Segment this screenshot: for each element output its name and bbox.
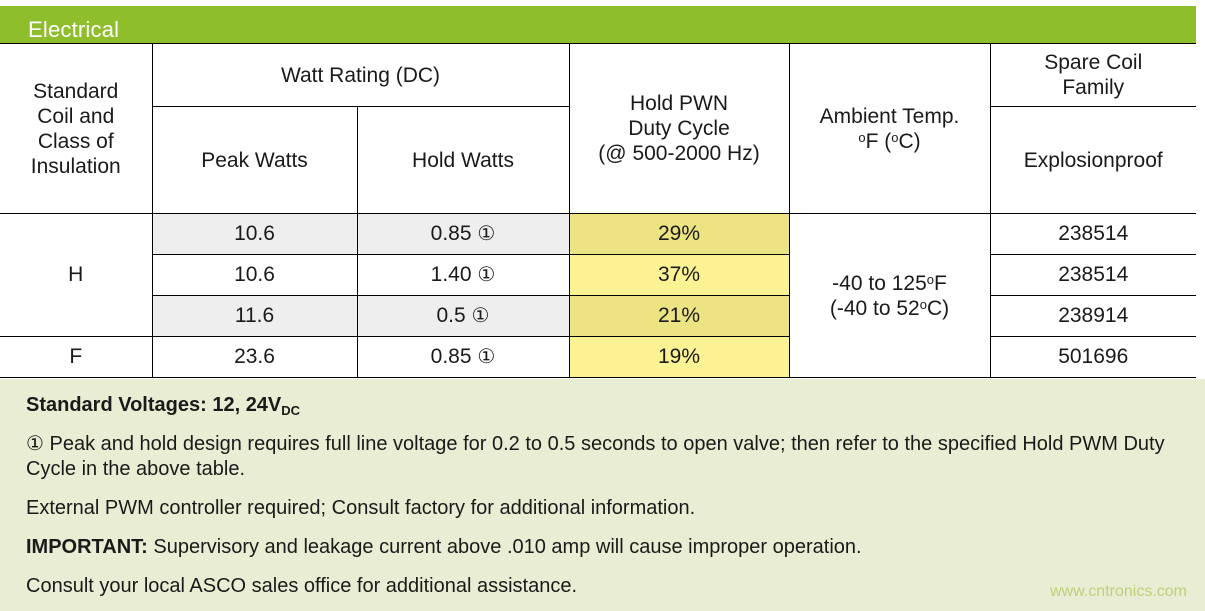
cell-spare-coil: 238914: [990, 296, 1196, 337]
note-important: IMPORTANT: Supervisory and leakage curre…: [26, 535, 1179, 560]
table-header-row-top: Standard Coil and Class of Insulation Wa…: [0, 44, 1196, 107]
section-banner: Electrical: [0, 6, 1196, 43]
cell-peak-watts: 23.6: [152, 337, 357, 378]
cell-class-f: F: [0, 337, 152, 378]
header-ambient-temp-line2: oF (oC): [792, 129, 988, 154]
cell-hold-watts: 1.40 ①: [357, 255, 569, 296]
header-hold-pwn-duty-cycle: Hold PWN Duty Cycle (@ 500-2000 Hz): [569, 44, 789, 214]
header-spare-coil-line1: Spare Coil: [993, 50, 1195, 75]
note-standard-voltages: Standard Voltages: 12, 24VDC: [26, 393, 1179, 418]
note-important-lead: IMPORTANT:: [26, 536, 148, 558]
notes-panel: Standard Voltages: 12, 24VDC ① Peak and …: [0, 379, 1205, 611]
cell-hold-watts: 0.85 ①: [357, 337, 569, 378]
cell-hold-watts-value: 0.85: [431, 222, 472, 245]
cell-duty-cycle: 21%: [569, 296, 789, 337]
cell-hold-watts-value: 1.40: [431, 263, 472, 286]
ambient-temp-f: -40 to 125oF: [792, 271, 988, 296]
cell-hold-watts-value: 0.85: [431, 345, 472, 368]
note-consult-asco: Consult your local ASCO sales office for…: [26, 574, 1179, 599]
spec-sheet-page: Electrical Standard Coil and Class of In…: [0, 0, 1205, 611]
footnote-marker-icon: ①: [472, 306, 490, 326]
cell-duty-cycle: 19%: [569, 337, 789, 378]
cell-duty-cycle: 29%: [569, 214, 789, 255]
header-hold-watts: Hold Watts: [357, 107, 569, 214]
header-line-4: Insulation: [2, 154, 150, 179]
header-ambient-temp-line1: Ambient Temp.: [792, 104, 988, 129]
header-ambient-temp: Ambient Temp. oF (oC): [789, 44, 990, 214]
cell-spare-coil: 238514: [990, 255, 1196, 296]
cell-peak-watts: 11.6: [152, 296, 357, 337]
header-spare-coil-family: Spare Coil Family: [990, 44, 1196, 107]
electrical-spec-table: Standard Coil and Class of Insulation Wa…: [0, 43, 1196, 378]
cell-peak-watts: 10.6: [152, 255, 357, 296]
footnote-marker-icon: ①: [477, 347, 495, 367]
site-watermark: www.cntronics.com: [1050, 583, 1187, 601]
cell-peak-watts: 10.6: [152, 214, 357, 255]
section-title: Electrical: [28, 18, 119, 42]
ambient-temp-c: (-40 to 52oC): [792, 296, 988, 321]
header-standard-coil-class: Standard Coil and Class of Insulation: [0, 44, 152, 214]
note-standard-voltages-label: Standard Voltages: 12, 24V: [26, 394, 281, 416]
header-spare-coil-line2: Family: [993, 75, 1195, 100]
header-line-3: Class of: [2, 129, 150, 154]
cell-class-h: H: [0, 214, 152, 337]
header-hold-pwn-line3: (@ 500-2000 Hz): [572, 141, 787, 166]
cell-duty-cycle: 37%: [569, 255, 789, 296]
cell-ambient-temp: -40 to 125oF (-40 to 52oC): [789, 214, 990, 378]
table-row: 11.6 0.5 ① 21% 238914: [0, 296, 1196, 337]
cell-hold-watts: 0.85 ①: [357, 214, 569, 255]
table-row: H 10.6 0.85 ① 29% -40 to 125oF (-40 to 5…: [0, 214, 1196, 255]
cell-hold-watts-value: 0.5: [437, 304, 466, 327]
cell-spare-coil: 238514: [990, 214, 1196, 255]
header-explosionproof: Explosionproof: [990, 107, 1196, 214]
cell-hold-watts: 0.5 ①: [357, 296, 569, 337]
header-line-1: Standard: [2, 79, 150, 104]
header-hold-pwn-line1: Hold PWN: [572, 91, 787, 116]
header-peak-watts: Peak Watts: [152, 107, 357, 214]
note-important-body: Supervisory and leakage current above .0…: [148, 536, 862, 558]
table-row: F 23.6 0.85 ① 19% 501696: [0, 337, 1196, 378]
footnote-marker-icon: ①: [477, 265, 495, 285]
note-external-pwm-controller: External PWM controller required; Consul…: [26, 496, 1179, 521]
header-watt-rating-group: Watt Rating (DC): [152, 44, 569, 107]
note-peak-hold-design: ① Peak and hold design requires full lin…: [26, 432, 1171, 482]
header-hold-pwn-line2: Duty Cycle: [572, 116, 787, 141]
note-standard-voltages-sub: DC: [281, 403, 300, 418]
table-row: 10.6 1.40 ① 37% 238514: [0, 255, 1196, 296]
header-line-2: Coil and: [2, 104, 150, 129]
footnote-marker-icon: ①: [477, 224, 495, 244]
cell-spare-coil: 501696: [990, 337, 1196, 378]
